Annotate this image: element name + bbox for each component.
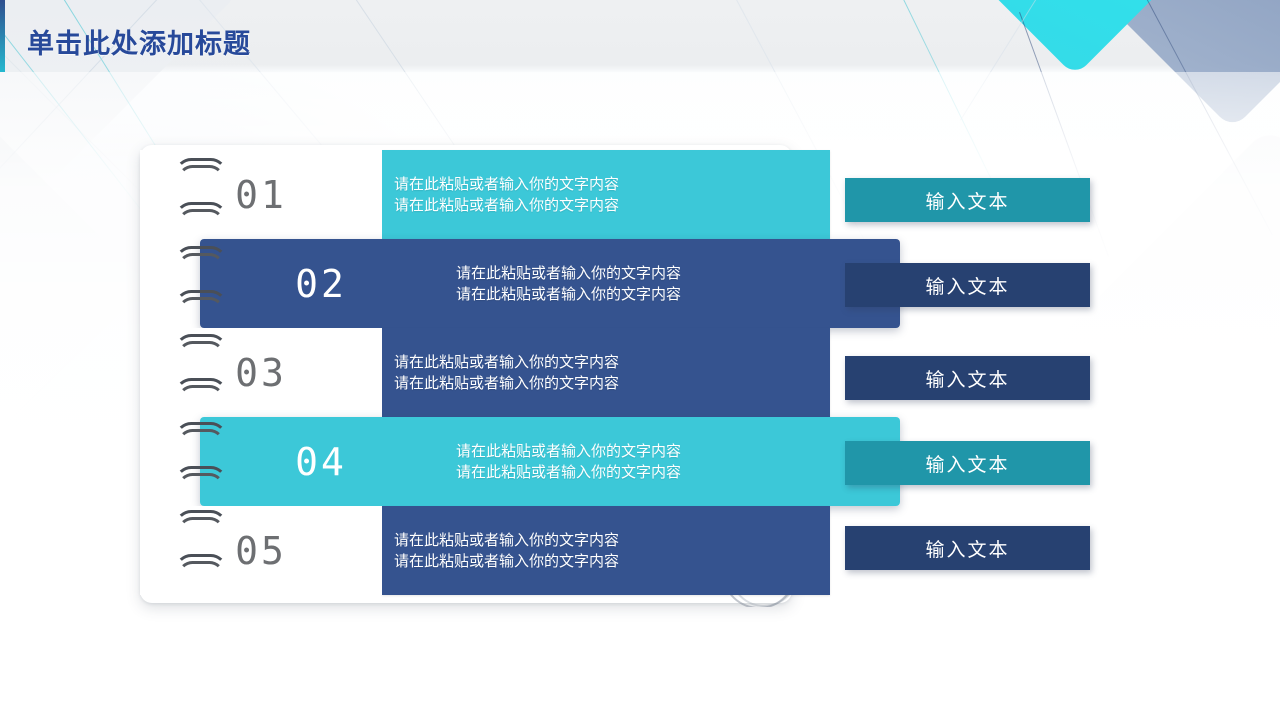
step-text-panel: 请在此粘贴或者输入你的文字内容请在此粘贴或者输入你的文字内容 (382, 328, 830, 417)
steps-list: 01请在此粘贴或者输入你的文字内容请在此粘贴或者输入你的文字内容输入文本02请在… (140, 150, 1140, 610)
step-text-line: 请在此粘贴或者输入你的文字内容 (394, 551, 830, 572)
step-text-line: 请在此粘贴或者输入你的文字内容 (394, 174, 830, 195)
step-text-panel: 请在此粘贴或者输入你的文字内容请在此粘贴或者输入你的文字内容 (382, 506, 830, 595)
step-text-panel: 请在此粘贴或者输入你的文字内容请在此粘贴或者输入你的文字内容 (442, 239, 900, 328)
step-text-line: 请在此粘贴或者输入你的文字内容 (456, 441, 900, 462)
step-text-line: 请在此粘贴或者输入你的文字内容 (456, 284, 900, 305)
step-text-line: 请在此粘贴或者输入你的文字内容 (394, 373, 830, 394)
step-number-cell: 04 (200, 417, 442, 506)
input-text-button[interactable]: 输入文本 (845, 441, 1090, 485)
input-text-button[interactable]: 输入文本 (845, 356, 1090, 400)
step-number: 03 (235, 351, 287, 395)
input-text-button-label: 输入文本 (925, 187, 1009, 214)
step-text-line: 请在此粘贴或者输入你的文字内容 (456, 462, 900, 483)
step-text-line: 请在此粘贴或者输入你的文字内容 (456, 263, 900, 284)
step-number: 04 (295, 440, 347, 484)
step-number-cell: 01 (140, 150, 382, 239)
step-number-cell: 02 (200, 239, 442, 328)
step-row[interactable]: 03请在此粘贴或者输入你的文字内容请在此粘贴或者输入你的文字内容 (140, 328, 830, 417)
step-text-panel: 请在此粘贴或者输入你的文字内容请在此粘贴或者输入你的文字内容 (382, 150, 830, 239)
input-text-button-label: 输入文本 (925, 450, 1009, 477)
step-text-panel: 请在此粘贴或者输入你的文字内容请在此粘贴或者输入你的文字内容 (442, 417, 900, 506)
step-row[interactable]: 02请在此粘贴或者输入你的文字内容请在此粘贴或者输入你的文字内容 (200, 239, 900, 328)
step-row[interactable]: 04请在此粘贴或者输入你的文字内容请在此粘贴或者输入你的文字内容 (200, 417, 900, 506)
step-text-line: 请在此粘贴或者输入你的文字内容 (394, 530, 830, 551)
input-text-button-label: 输入文本 (925, 365, 1009, 392)
step-number: 01 (235, 173, 287, 217)
step-text-line: 请在此粘贴或者输入你的文字内容 (394, 352, 830, 373)
page-title: 单击此处添加标题 (27, 22, 251, 61)
input-text-button-label: 输入文本 (925, 535, 1009, 562)
step-number-cell: 03 (140, 328, 382, 417)
input-text-button[interactable]: 输入文本 (845, 526, 1090, 570)
input-text-button[interactable]: 输入文本 (845, 178, 1090, 222)
step-number: 02 (295, 262, 347, 306)
step-row[interactable]: 05请在此粘贴或者输入你的文字内容请在此粘贴或者输入你的文字内容 (140, 506, 830, 595)
step-number-cell: 05 (140, 506, 382, 595)
input-text-button-label: 输入文本 (925, 272, 1009, 299)
step-row[interactable]: 01请在此粘贴或者输入你的文字内容请在此粘贴或者输入你的文字内容 (140, 150, 830, 239)
step-number: 05 (235, 529, 287, 573)
step-text-line: 请在此粘贴或者输入你的文字内容 (394, 195, 830, 216)
input-text-button[interactable]: 输入文本 (845, 263, 1090, 307)
